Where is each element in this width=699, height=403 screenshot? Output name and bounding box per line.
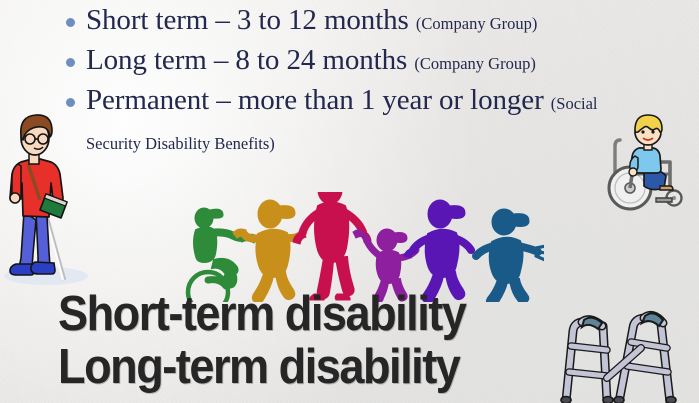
bullet-dot-icon — [66, 98, 75, 107]
walking-frame-illustration — [548, 300, 696, 403]
chain-of-people-holding-hands-illustration — [178, 192, 544, 302]
bullet-text-permanent: Permanent – more than 1 year or longer — [86, 84, 551, 116]
headline-block: Short-term disability Long-term disabili… — [58, 288, 465, 394]
bullet-note-short-term: (Company Group) — [416, 14, 537, 33]
figure-adult-blue — [476, 209, 544, 302]
bullet-text-short-term: Short term – 3 to 12 months — [86, 4, 416, 36]
person-with-white-cane-illustration — [2, 108, 94, 288]
slide-canvas: Short term – 3 to 12 months (Company Gro… — [0, 0, 699, 403]
bullet-item-short-term: Short term – 3 to 12 months (Company Gro… — [60, 2, 680, 42]
figure-adult-tall-crimson — [293, 192, 371, 300]
headline-line-short-term: Short-term disability — [58, 288, 465, 341]
bullet-text-long-term: Long term – 8 to 24 months — [86, 44, 414, 76]
bullet-dot-icon — [66, 18, 75, 27]
bullet-item-permanent: Permanent – more than 1 year or longer (… — [60, 82, 606, 162]
headline-line-long-term: Long-term disability — [58, 341, 465, 394]
bullet-note-long-term: (Company Group) — [414, 54, 535, 73]
bullet-dot-icon — [66, 58, 75, 67]
boy-in-wheelchair-illustration — [604, 112, 696, 216]
bullet-item-long-term: Long term – 8 to 24 months (Company Grou… — [60, 42, 680, 82]
bullet-list: Short term – 3 to 12 months (Company Gro… — [60, 2, 680, 162]
